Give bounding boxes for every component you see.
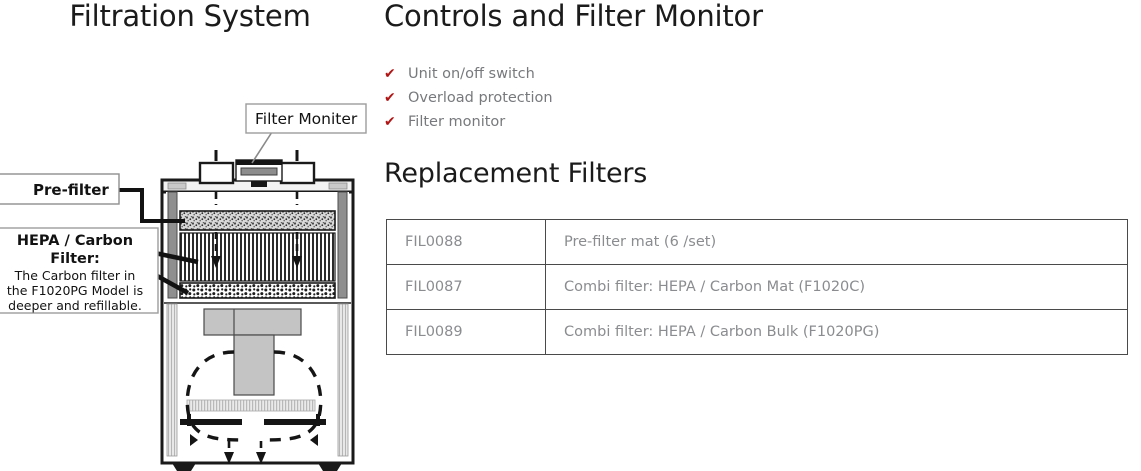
feature-label: Overload protection xyxy=(408,90,553,106)
callout-hepa-title-1: HEPA / Carbon xyxy=(17,233,133,249)
carbon-filter-bed xyxy=(180,283,335,298)
callout-hepa-body-1: The Carbon filter in xyxy=(14,268,136,283)
filter-description-cell: Pre-filter mat (6 /set) xyxy=(546,220,1128,265)
filter-code-cell: FIL0088 xyxy=(387,220,546,265)
callout-hepa-body-2: the F1020PG Model is xyxy=(7,283,143,298)
filter-code-cell: FIL0089 xyxy=(387,310,546,355)
check-icon: ✔ xyxy=(384,115,400,129)
table-row: FIL0088 Pre-filter mat (6 /set) xyxy=(387,220,1128,265)
callout-hepa-body-3: deeper and refillable. xyxy=(8,298,142,313)
callout-hepa-title-2: Filter: xyxy=(50,251,100,267)
machine-body xyxy=(162,180,353,471)
callout-pre-filter: Pre-filter xyxy=(0,174,119,204)
replacement-filters-title: Replacement Filters xyxy=(384,157,647,191)
callout-pre-filter-label: Pre-filter xyxy=(33,181,109,199)
feature-label: Filter monitor xyxy=(408,114,505,130)
filter-monitor-leader xyxy=(252,132,272,163)
filter-code-cell: FIL0087 xyxy=(387,265,546,310)
replacement-filters-table: FIL0088 Pre-filter mat (6 /set) FIL0087 … xyxy=(386,219,1128,355)
feature-label: Unit on/off switch xyxy=(408,66,535,82)
controls-section-title: Controls and Filter Monitor xyxy=(384,0,763,34)
filter-description-cell: Combi filter: HEPA / Carbon Mat (F1020C) xyxy=(546,265,1128,310)
hepa-filter-element xyxy=(180,233,335,281)
check-icon: ✔ xyxy=(384,91,400,105)
list-item: ✔ Unit on/off switch xyxy=(384,62,704,86)
check-icon: ✔ xyxy=(384,67,400,81)
callout-filter-monitor: Filter Moniter xyxy=(246,104,366,133)
list-item: ✔ Filter monitor xyxy=(384,110,704,134)
table-row: FIL0087 Combi filter: HEPA / Carbon Mat … xyxy=(387,265,1128,310)
list-item: ✔ Overload protection xyxy=(384,86,704,110)
callout-filter-monitor-label: Filter Moniter xyxy=(255,110,358,128)
table-row: FIL0089 Combi filter: HEPA / Carbon Bulk… xyxy=(387,310,1128,355)
controls-feature-list: ✔ Unit on/off switch ✔ Overload protecti… xyxy=(384,62,704,134)
pre-filter-mat xyxy=(180,211,335,230)
filtration-system-diagram: Filter Moniter Pre-filter HEPA / Carbon … xyxy=(0,0,380,471)
callout-hepa-carbon: HEPA / Carbon Filter: The Carbon filter … xyxy=(0,228,158,313)
filter-description-cell: Combi filter: HEPA / Carbon Bulk (F1020P… xyxy=(546,310,1128,355)
